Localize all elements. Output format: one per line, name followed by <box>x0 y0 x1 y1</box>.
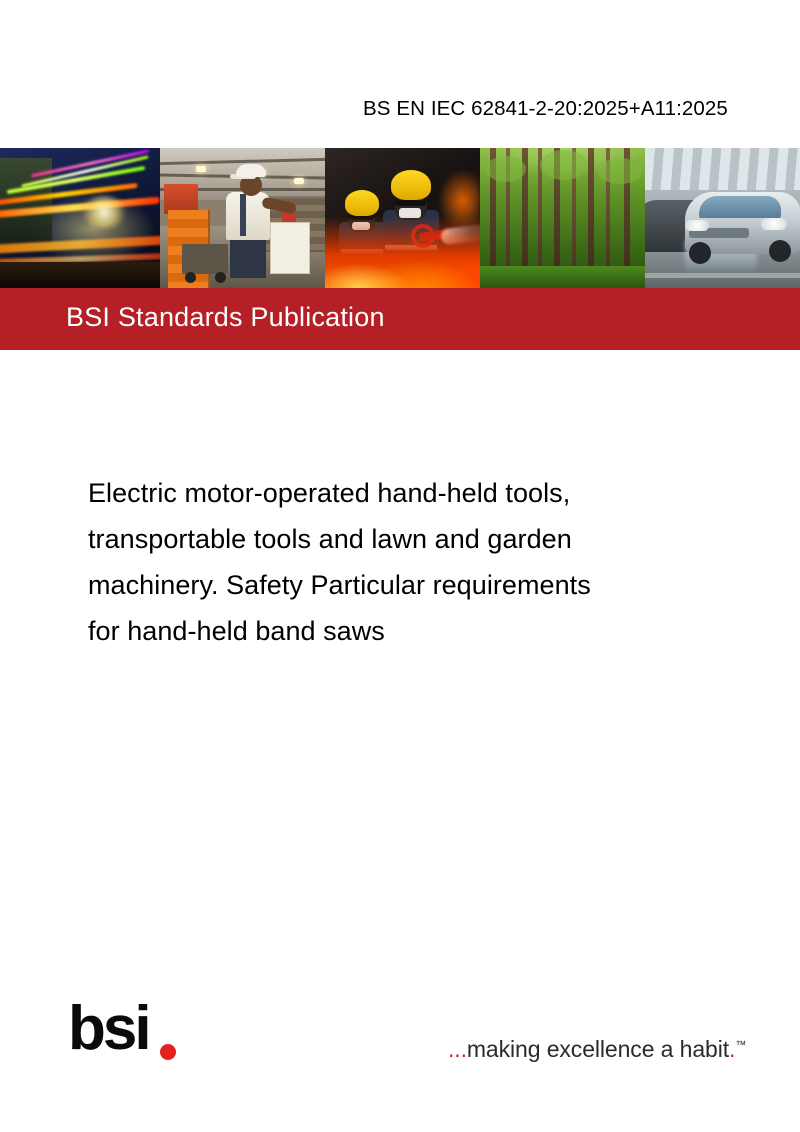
standard-number: BS EN IEC 62841-2-20:2025+A11:2025 <box>363 97 800 121</box>
headlight-glow <box>78 196 130 228</box>
cart-wheel <box>185 272 196 283</box>
worker-trousers <box>230 236 266 278</box>
cardboard-box <box>270 222 310 274</box>
cart-wheel <box>215 272 226 283</box>
cover-image-banner <box>0 148 800 288</box>
car-windscreen <box>699 196 781 218</box>
bsi-logo-dot-icon <box>160 1044 176 1060</box>
banner-image-warehouse-worker <box>160 148 325 288</box>
trademark-symbol: ™ <box>735 1039 746 1051</box>
document-cover-page: BS EN IEC 62841-2-20:2025+A11:2025 <box>0 0 800 1132</box>
hand-cart <box>182 244 228 274</box>
bsi-logo-wordmark: bsi <box>68 998 149 1060</box>
title-line-2: transportable tools and lawn and garden <box>88 516 728 562</box>
ceiling-lamp <box>196 166 206 172</box>
publisher-band: BSI Standards Publication <box>0 288 800 350</box>
road-surface <box>0 262 160 288</box>
tagline-ellipsis: ... <box>448 1036 467 1062</box>
worker-cap <box>236 164 266 177</box>
banner-image-firefighters-with-hose <box>325 148 480 288</box>
flames <box>325 216 480 288</box>
banner-image-night-traffic-light-trails <box>0 148 160 288</box>
title-line-4: for hand-held band saws <box>88 608 728 654</box>
yellow-helmet <box>345 190 379 216</box>
banner-image-car-assembly-line <box>645 148 800 288</box>
bsi-logo: bsi <box>68 1004 188 1066</box>
bsi-tagline: ...making excellence a habit.™ <box>448 1036 746 1063</box>
car-headlight <box>761 218 787 230</box>
safety-goggles <box>395 200 426 206</box>
title-line-1: Electric motor-operated hand-held tools, <box>88 470 728 516</box>
factory-ceiling <box>645 148 800 190</box>
forest-floor <box>480 266 645 288</box>
tree-trunk <box>588 148 594 272</box>
car-headlight <box>685 220 709 231</box>
title-line-3: machinery. Safety Particular requirement… <box>88 562 728 608</box>
car-wheel <box>769 240 791 262</box>
page-title: Electric motor-operated hand-held tools,… <box>88 470 728 654</box>
tagline-text: making excellence a habit <box>467 1036 729 1062</box>
publisher-band-label: BSI Standards Publication <box>66 302 385 333</box>
car-wheel <box>689 242 711 264</box>
yellow-helmet <box>391 170 431 200</box>
foliage <box>598 158 642 184</box>
ceiling-lamp <box>294 178 304 184</box>
worker-strap <box>240 194 246 236</box>
banner-image-forest-trees <box>480 148 645 288</box>
foliage <box>540 150 588 180</box>
foliage <box>486 156 526 182</box>
